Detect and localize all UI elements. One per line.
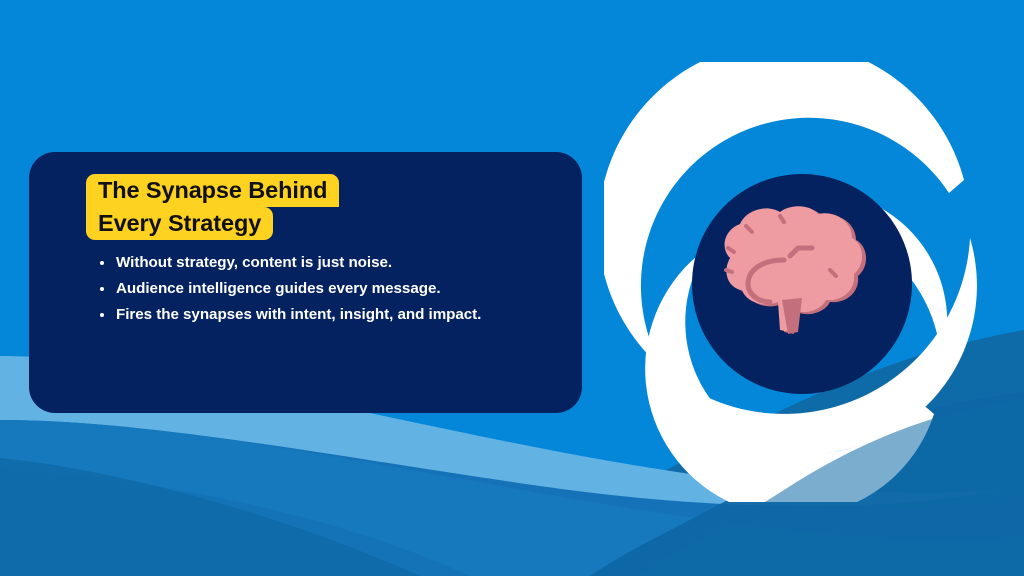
brain-emblem: [604, 62, 1000, 502]
list-item: Audience intelligence guides every messa…: [98, 276, 558, 302]
bullet-text: Without strategy, content is just noise.: [116, 254, 392, 271]
slide-canvas: The Synapse Behind Every Strategy Withou…: [0, 0, 1024, 576]
wave-front-lower: [0, 470, 470, 576]
bullet-dot-icon: [100, 261, 104, 265]
bullet-list: Without strategy, content is just noise.…: [98, 250, 558, 328]
brain-crease-c: [726, 270, 732, 272]
bullet-dot-icon: [100, 287, 104, 291]
bullet-text: Fires the synapses with intent, insight,…: [116, 306, 481, 323]
emblem-svg: [604, 62, 1000, 502]
wave-accent-bottom-left: [0, 458, 420, 576]
bullet-text: Audience intelligence guides every messa…: [116, 280, 441, 297]
content-card: The Synapse Behind Every Strategy Withou…: [29, 152, 582, 413]
list-item: Without strategy, content is just noise.: [98, 250, 558, 276]
list-item: Fires the synapses with intent, insight,…: [98, 302, 558, 328]
title-line-1: The Synapse Behind: [86, 174, 339, 207]
title-line-2: Every Strategy: [86, 207, 273, 240]
bullet-dot-icon: [100, 313, 104, 317]
page-title: The Synapse Behind Every Strategy: [86, 174, 566, 240]
